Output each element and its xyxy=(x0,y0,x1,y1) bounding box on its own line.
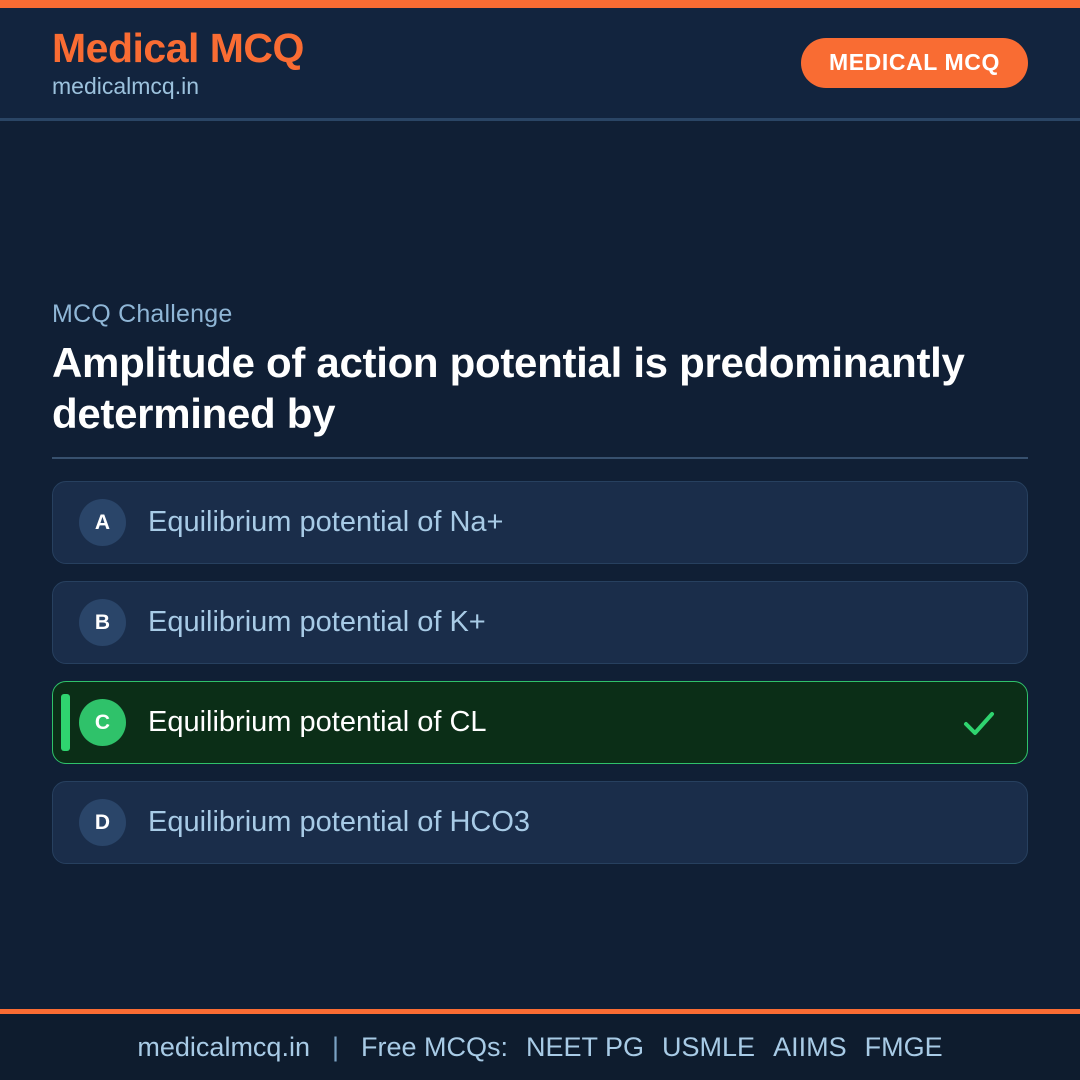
question-text: Amplitude of action potential is predomi… xyxy=(52,337,992,439)
option-row-a[interactable]: A Equilibrium potential of Na+ xyxy=(52,481,1028,564)
option-label: Equilibrium potential of HCO3 xyxy=(148,806,999,839)
option-label: Equilibrium potential of K+ xyxy=(148,606,999,639)
question-block: MCQ Challenge Amplitude of action potent… xyxy=(52,299,1028,481)
option-letter-badge: C xyxy=(79,699,126,746)
page-header: Medical MCQ medicalmcq.in MEDICAL MCQ xyxy=(0,8,1080,121)
header-badge: MEDICAL MCQ xyxy=(801,38,1028,88)
question-divider xyxy=(52,457,1028,459)
footer-exam-usmle: USMLE xyxy=(662,1034,755,1061)
option-row-c[interactable]: C Equilibrium potential of CL xyxy=(52,681,1028,764)
eyebrow-label: MCQ Challenge xyxy=(52,299,1028,329)
footer-exam-fmge: FMGE xyxy=(865,1034,943,1061)
option-row-d[interactable]: D Equilibrium potential of HCO3 xyxy=(52,781,1028,864)
mcq-card: Medical MCQ medicalmcq.in MEDICAL MCQ MC… xyxy=(0,0,1080,1080)
check-icon xyxy=(959,703,999,743)
option-row-b[interactable]: B Equilibrium potential of K+ xyxy=(52,581,1028,664)
option-letter-badge: D xyxy=(79,799,126,846)
footer-text: medicalmcq.in | Free MCQs: NEET PG USMLE… xyxy=(137,1034,942,1061)
top-accent-rule xyxy=(0,0,1080,8)
brand: Medical MCQ medicalmcq.in xyxy=(52,26,304,100)
brand-subtitle: medicalmcq.in xyxy=(52,74,304,99)
option-letter-badge: B xyxy=(79,599,126,646)
brand-title: Medical MCQ xyxy=(52,26,304,70)
footer-exam-neet-pg: NEET PG xyxy=(526,1034,644,1061)
footer-site: medicalmcq.in xyxy=(137,1034,310,1061)
footer-exam-aiims: AIIMS xyxy=(773,1034,847,1061)
correct-accent-bar xyxy=(61,694,70,751)
footer-label: Free MCQs: xyxy=(361,1034,508,1061)
main-content: MCQ Challenge Amplitude of action potent… xyxy=(0,121,1080,1009)
option-label: Equilibrium potential of Na+ xyxy=(148,506,999,539)
page-footer: medicalmcq.in | Free MCQs: NEET PG USMLE… xyxy=(0,1009,1080,1080)
footer-separator: | xyxy=(332,1034,339,1061)
option-letter-badge: A xyxy=(79,499,126,546)
option-label: Equilibrium potential of CL xyxy=(148,706,959,739)
options-list: A Equilibrium potential of Na+ B Equilib… xyxy=(52,481,1028,864)
